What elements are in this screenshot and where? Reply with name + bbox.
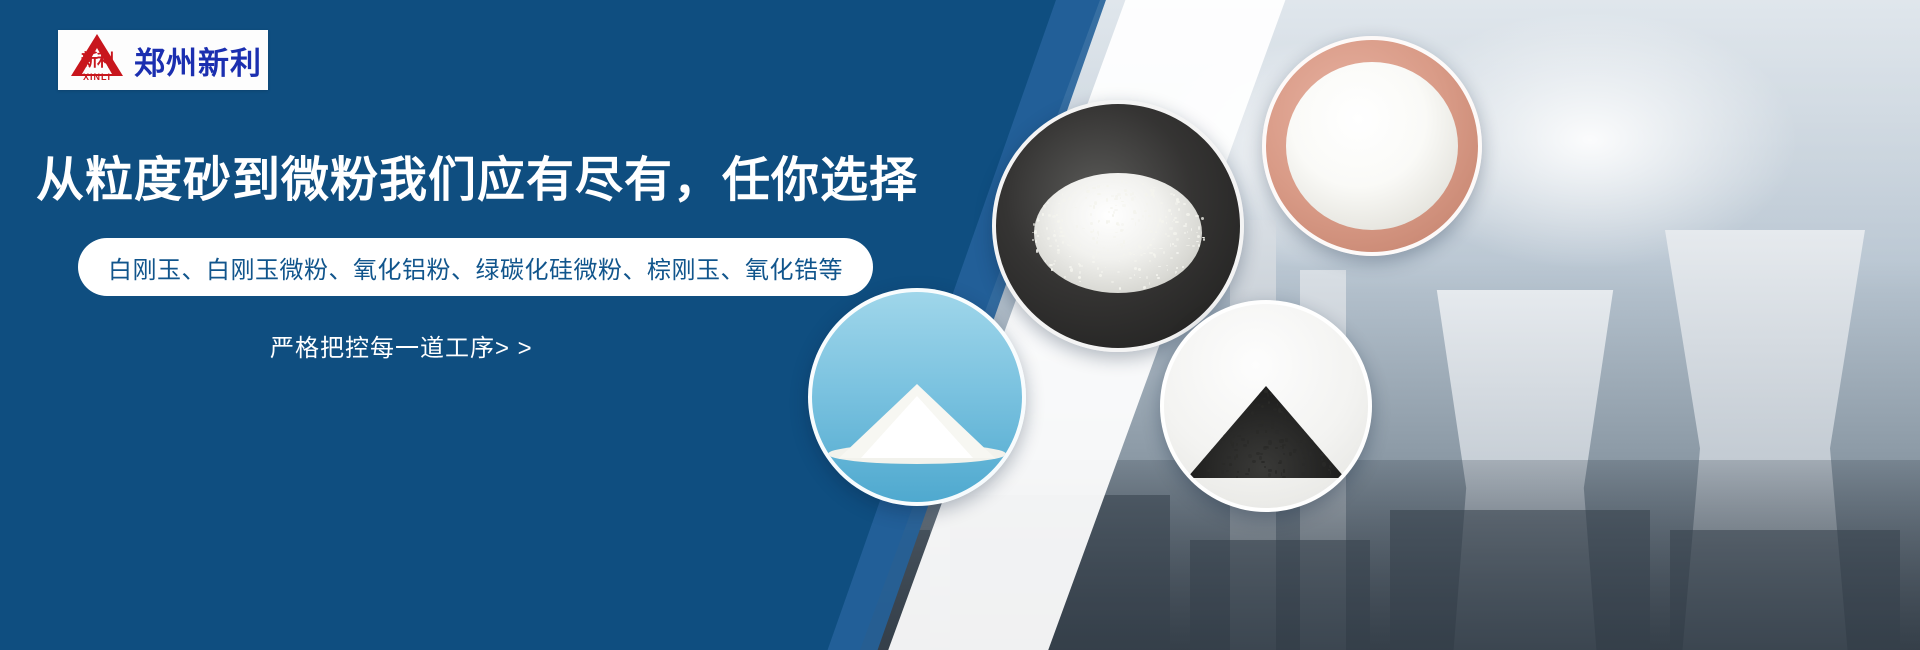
company-logo[interactable]: 新利 XINLI 郑州新利	[58, 30, 268, 90]
triangle-logo-icon: 新利 XINLI	[64, 32, 130, 88]
black-granule-mound	[1187, 386, 1345, 478]
white-powder-mound	[1286, 62, 1458, 230]
powder-cone-inner	[861, 396, 973, 458]
product-photo-white-grit	[992, 100, 1244, 352]
logo-mark-en-text: XINLI	[64, 72, 130, 82]
building-block	[1390, 510, 1650, 650]
hero-subtitle-cta[interactable]: 严格把控每一道工序> >	[270, 328, 533, 363]
product-photo-powder-cone	[808, 288, 1026, 506]
product-photo-black-granules	[1160, 300, 1372, 512]
product-list-text: 白刚玉、白刚玉微粉、氧化铝粉、绿碳化硅微粉、棕刚玉、氧化锆等	[108, 250, 843, 285]
product-list-pill: 白刚玉、白刚玉微粉、氧化铝粉、绿碳化硅微粉、棕刚玉、氧化锆等	[78, 238, 873, 296]
product-photo-white-powder-dish	[1262, 36, 1482, 256]
building-block	[1190, 540, 1370, 650]
white-grit-mound	[1034, 173, 1202, 293]
company-name-text: 郑州新利	[134, 38, 262, 83]
building-block	[1670, 530, 1900, 650]
hero-banner: 新利 XINLI 郑州新利 从粒度砂到微粉我们应有尽有，任你选择 白刚玉、白刚玉…	[0, 0, 1920, 650]
logo-mark-cn-text: 新利	[64, 52, 130, 69]
hero-headline: 从粒度砂到微粉我们应有尽有，任你选择	[36, 140, 918, 210]
